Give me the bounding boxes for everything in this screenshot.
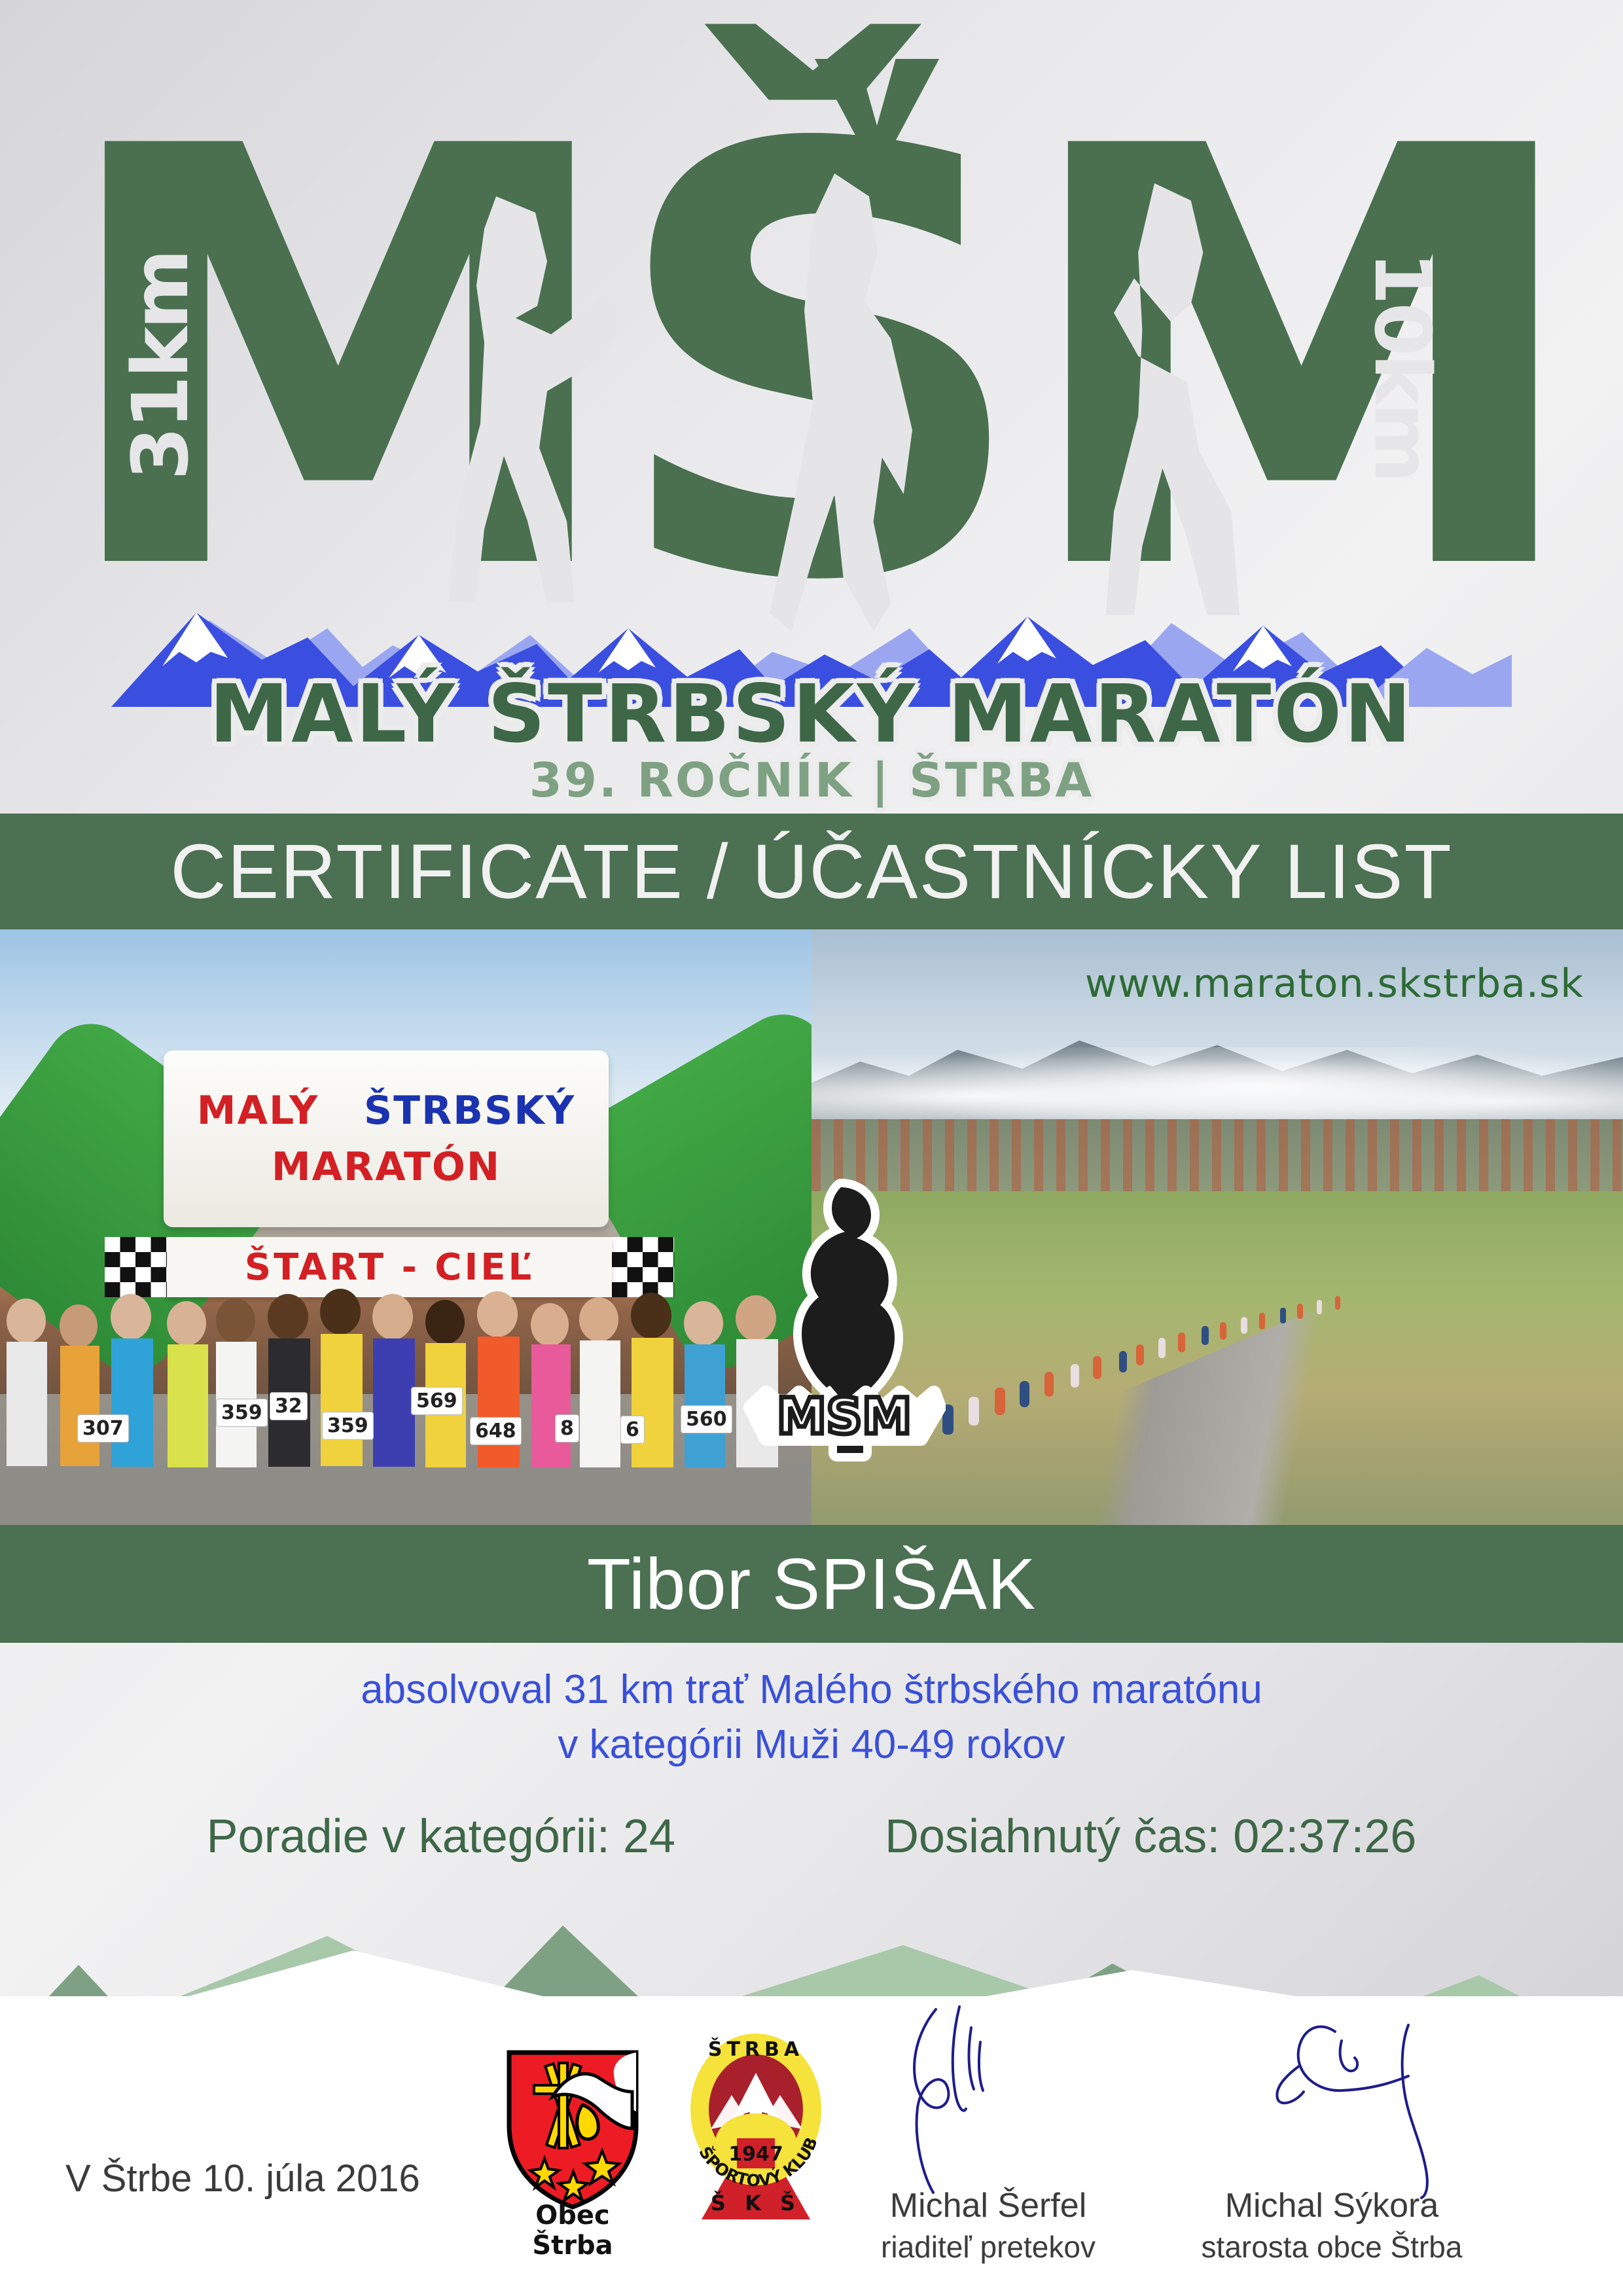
logo-letter-m2: M <box>1015 137 1571 586</box>
website-url[interactable]: www.maraton.skstrba.sk <box>1085 961 1584 1007</box>
participant-name-band: Tibor SPIŠAK <box>0 1525 1623 1643</box>
distance-label-10km: 10km <box>1357 251 1448 480</box>
msm-runner-badge-icon: MŠM <box>743 1177 946 1465</box>
sks-strba-club-logo-icon: 1947 ŠTRBA ŠPORTOVÝ KLUB Š K Š <box>681 2032 831 2229</box>
sks-year: 1947 <box>728 2143 783 2166</box>
arch-banner-maly: MALÝ <box>197 1088 319 1134</box>
bib-number: 648 <box>470 1417 522 1445</box>
arch-banner-line1: MALÝ ŠTRBSKÝ <box>197 1088 575 1134</box>
results-row: Poradie v kategórii: 24 Dosiahnutý čas: … <box>0 1810 1623 1863</box>
achievement-text: absolvoval 31 km trať Malého štrbského m… <box>0 1662 1623 1772</box>
certificate-title: CERTIFICATE / ÚČASTNÍCKY LIST <box>170 827 1452 916</box>
signature-block-mayor: Michal Sýkora starosta obce Štrba <box>1178 2016 1486 2265</box>
bib-number: 6 <box>620 1416 645 1444</box>
logo-subwordmark: 39. ROČNÍK | ŠTRBA <box>111 753 1512 808</box>
participant-name: Tibor SPIŠAK <box>587 1543 1037 1626</box>
bib-number: 359 <box>322 1412 374 1440</box>
arch-banner-maraton: MARATÓN <box>272 1144 501 1190</box>
footer: V Štrbe 10. júla 2016 <box>0 1996 1623 2296</box>
distance-label-31km: 31km <box>115 251 205 480</box>
bib-number: 560 <box>681 1405 732 1433</box>
finish-time: Dosiahnutý čas: 02:37:26 <box>885 1810 1417 1863</box>
issue-date: V Štrbe 10. júla 2016 <box>65 2157 420 2200</box>
arch-banner-line2: MARATÓN <box>272 1144 501 1190</box>
arch-banner-strbsky: ŠTRBSKÝ <box>364 1088 575 1134</box>
msm-logo: M Š M 31km 10km <box>111 39 1512 812</box>
bib-number: 569 <box>411 1387 463 1415</box>
bib-number: 8 <box>555 1414 579 1443</box>
details-section: absolvoval 31 km trať Malého štrbského m… <box>0 1643 1623 1918</box>
achievement-line-2: v kategórii Muži 40-49 rokov <box>0 1717 1623 1772</box>
signatory-role: riaditeľ pretekov <box>838 2229 1139 2265</box>
arch-banner: MALÝ ŠTRBSKÝ MARATÓN <box>164 1050 609 1227</box>
photo-start-line: MALÝ ŠTRBSKÝ MARATÓN ŠTART - CIEĽ <box>0 929 811 1525</box>
bib-number: 307 <box>77 1414 129 1443</box>
certificate-title-band: CERTIFICATE / ÚČASTNÍCKY LIST <box>0 814 1623 929</box>
bib-number: 32 <box>270 1392 308 1420</box>
signature-mark-icon <box>838 2003 1139 2199</box>
signatory-role: starosta obce Štrba <box>1178 2229 1486 2265</box>
runner-crowd <box>0 1244 811 1525</box>
crest-label: Obec Štrba <box>504 2200 641 2261</box>
svg-text:Š K Š: Š K Š <box>711 2190 801 2215</box>
badge-label: MŠM <box>777 1386 912 1445</box>
signature-mark-icon <box>1178 2003 1486 2199</box>
bib-number: 359 <box>216 1399 268 1427</box>
signature-block-director: Michal Šerfel riaditeľ pretekov <box>838 2016 1139 2265</box>
category-rank: Poradie v kategórii: 24 <box>207 1810 675 1863</box>
obec-strba-crest-icon: Obec Štrba <box>504 2036 641 2225</box>
achievement-line-1: absolvoval 31 km trať Malého štrbského m… <box>0 1662 1623 1717</box>
logo-wordmark: MALÝ ŠTRBSKÝ MARATÓN <box>111 668 1512 761</box>
logo-area: M Š M 31km 10km <box>0 0 1623 814</box>
certificate-page: M Š M 31km 10km <box>0 0 1623 2296</box>
svg-text:ŠTRBA: ŠTRBA <box>708 2037 804 2061</box>
